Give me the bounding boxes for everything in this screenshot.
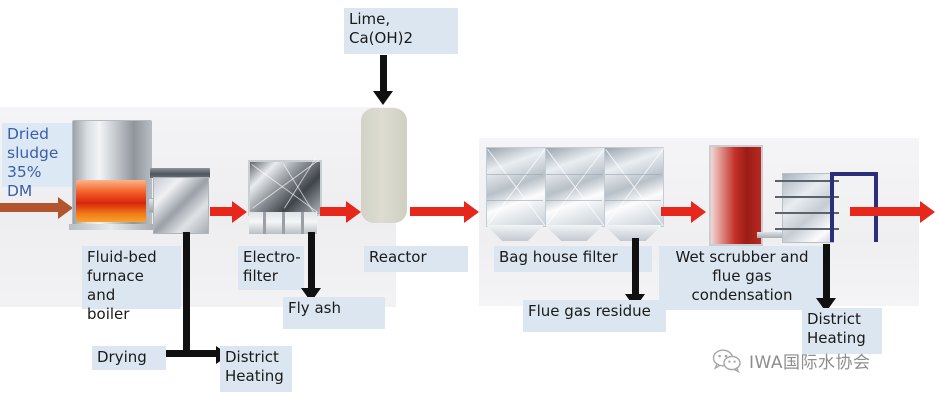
electro-filter-unit: [248, 160, 322, 216]
label-drying: Drying: [92, 346, 166, 370]
label-bag-house-filter: Bag house filter: [494, 246, 652, 272]
fluidised-bed-flame: [76, 180, 146, 222]
watermark: IWA国际水协会: [712, 348, 871, 373]
process-flow-diagram: Dried sludge 35% DM Fluid-bed furnace an…: [0, 0, 939, 401]
wet-scrubber-column: [709, 145, 763, 246]
label-fly-ash: Fly ash: [283, 297, 385, 329]
wechat-icon: [712, 349, 742, 373]
label-lime: Lime, Ca(OH)2: [344, 8, 458, 54]
scrubber-outlet-pipe: [757, 232, 783, 238]
label-dried-sludge: Dried sludge 35% DM: [2, 123, 76, 187]
label-electro-filter: Electro- filter: [238, 246, 304, 290]
label-wet-scrubber: Wet scrubber and flue gas condensation: [659, 246, 825, 310]
reactor-vessel: [361, 108, 407, 223]
label-reactor: Reactor: [364, 246, 468, 272]
furnace-base: [69, 224, 153, 230]
watermark-text: IWA国际水协会: [749, 348, 871, 373]
boiler-vessel: [153, 177, 209, 234]
flue-gas-condenser-heat-exchanger: [782, 173, 834, 243]
label-district-heating-left: District Heating: [220, 346, 292, 392]
label-flue-gas-residue: Flue gas residue: [523, 300, 666, 332]
label-fluid-bed-furnace: Fluid-bed furnace and boiler: [82, 246, 181, 309]
electro-filter-hoppers: [249, 212, 317, 234]
